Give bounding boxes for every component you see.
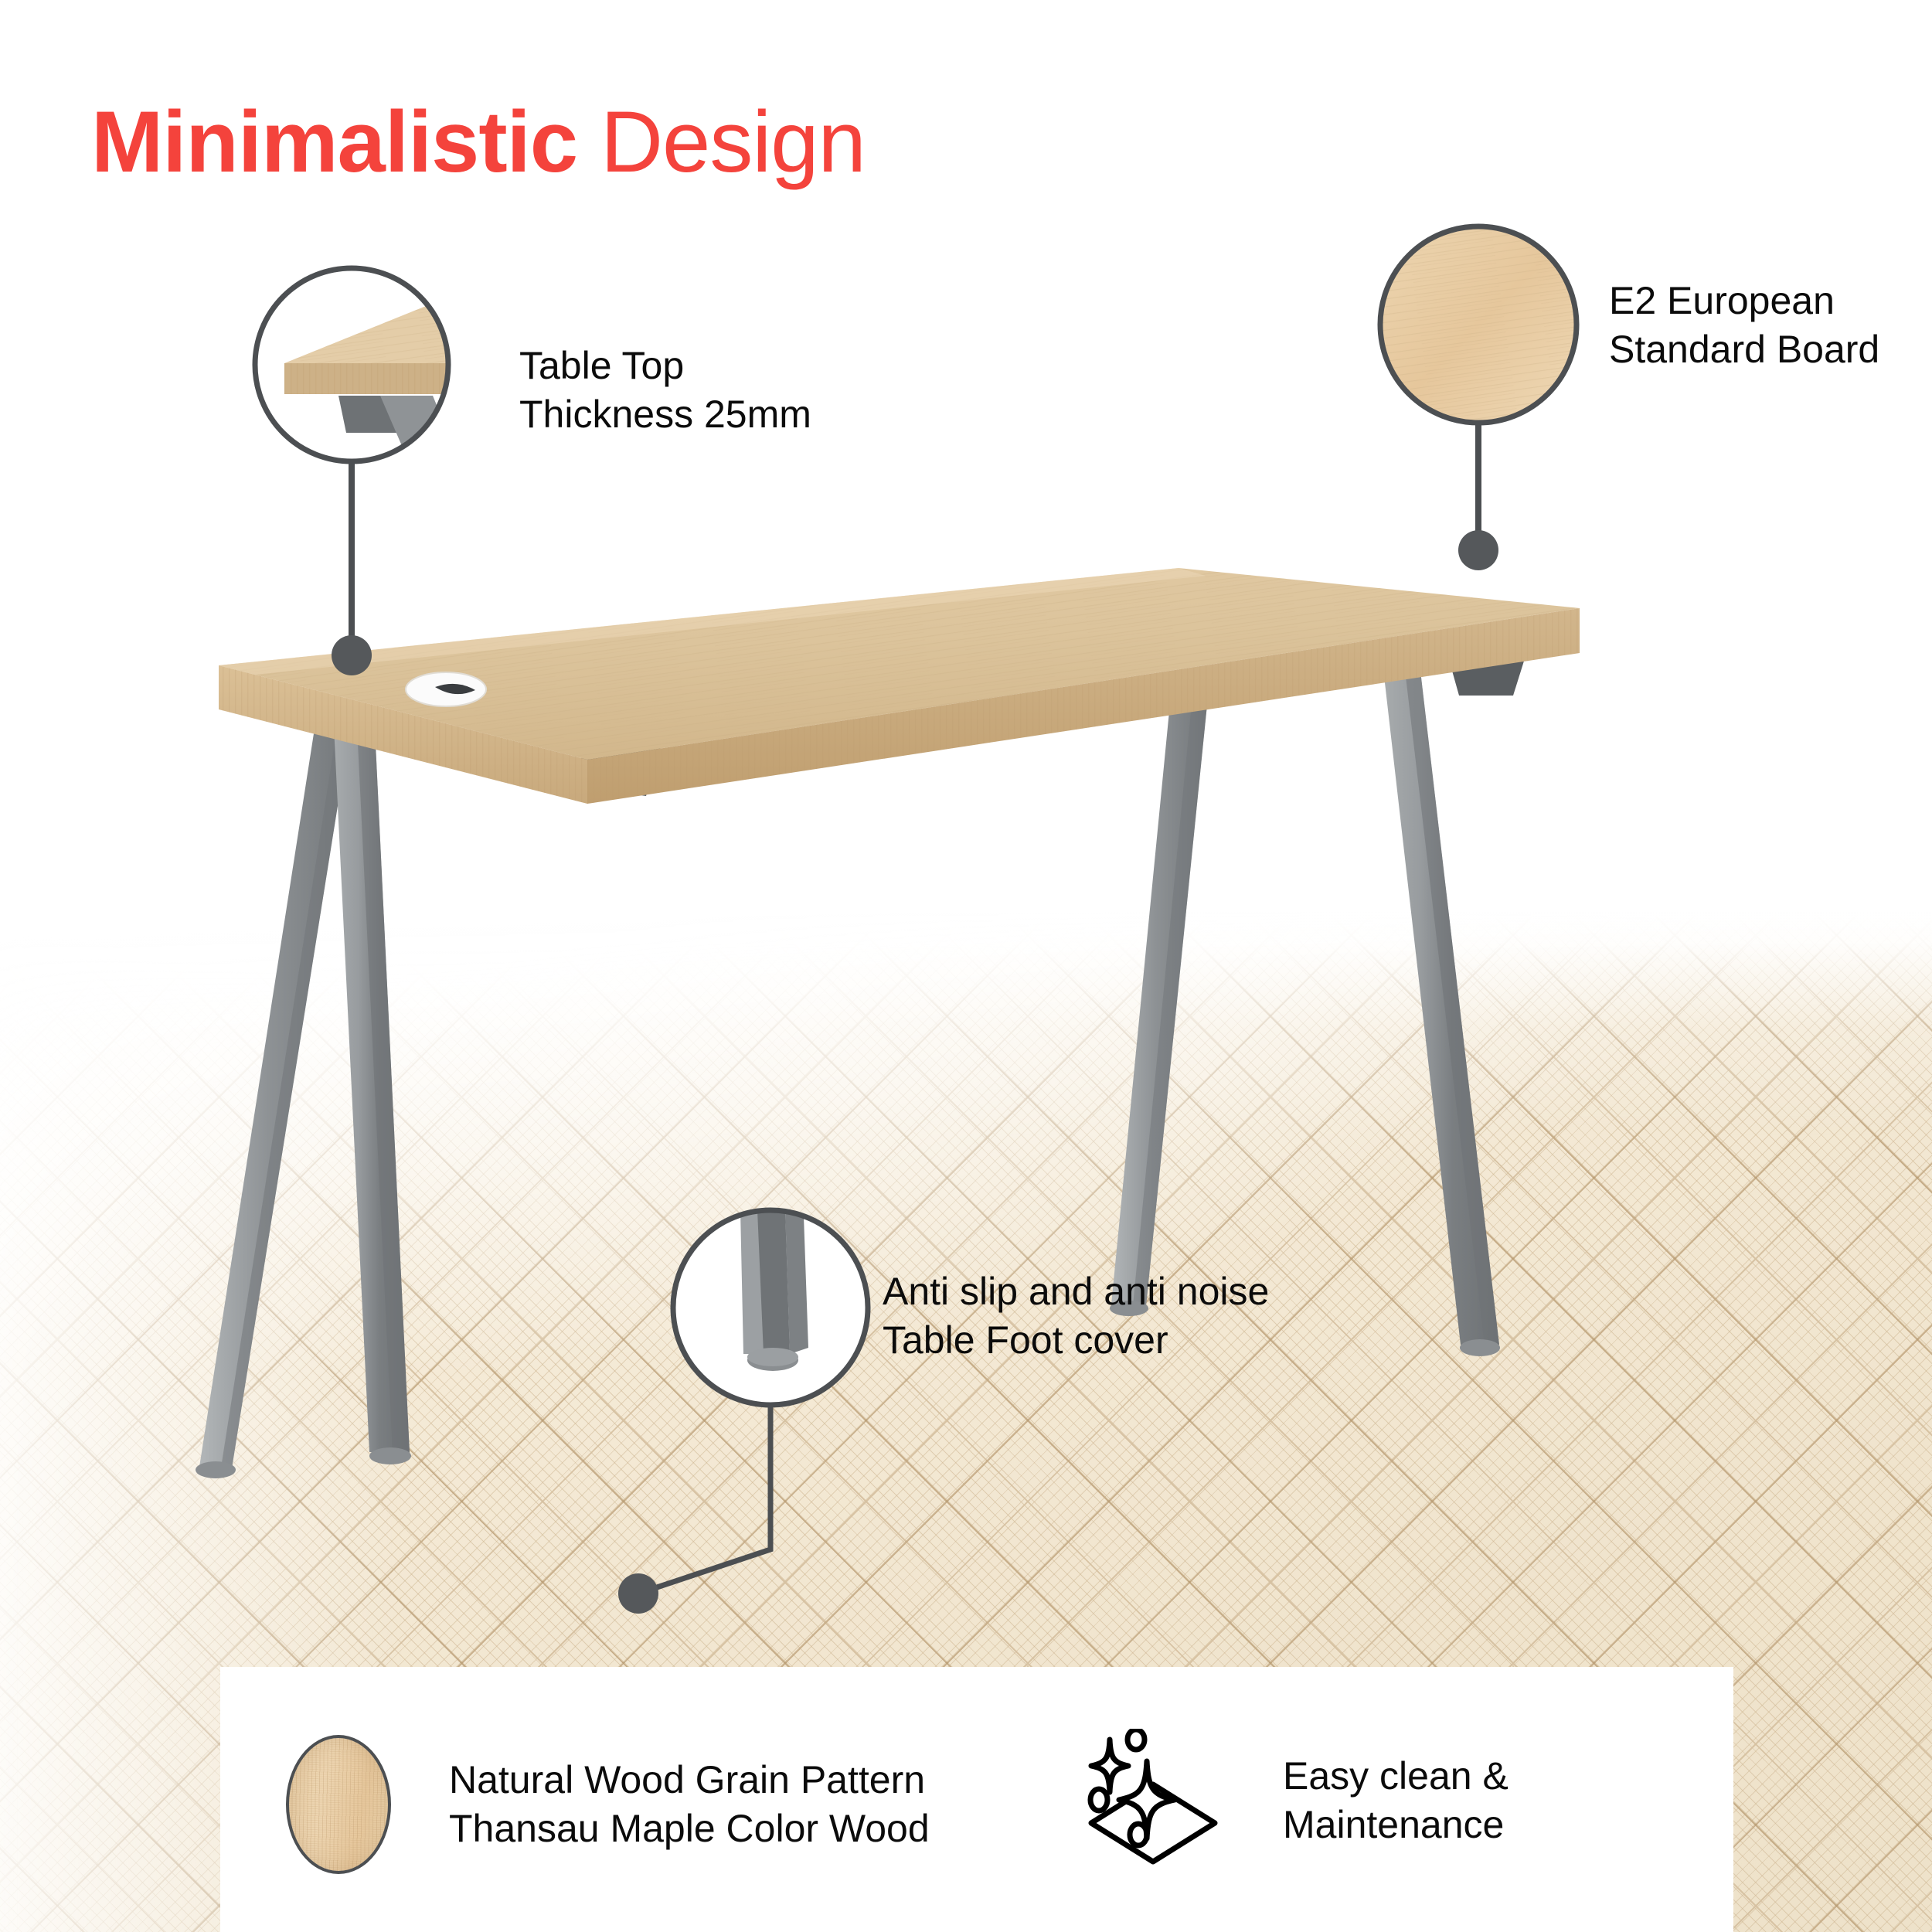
feature-easy-clean[interactable]: Easy clean & Maintenance xyxy=(1082,1729,1509,1872)
sparkle-diamond-icon xyxy=(1082,1729,1229,1872)
callout-2-line1: E2 European xyxy=(1609,277,1879,325)
callout-1-zoom-content xyxy=(255,268,510,495)
callout-label-foot-cover: Anti slip and anti noise Table Foot cove… xyxy=(883,1267,1269,1365)
callout-1-line1: Table Top xyxy=(519,342,811,390)
callout-label-e2-board: E2 European Standard Board xyxy=(1609,277,1879,374)
callout-table-top-thickness[interactable] xyxy=(255,268,510,675)
callout-e2-standard-board[interactable] xyxy=(1380,226,1577,570)
feature-2-text: Easy clean & Maintenance xyxy=(1283,1752,1509,1849)
callout-3-anchor-dot xyxy=(618,1573,658,1614)
feature-1-text: Natural Wood Grain Pattern Thansau Maple… xyxy=(449,1756,930,1853)
foot-cover-left-front xyxy=(369,1447,411,1464)
callout-1-line2: Thickness 25mm xyxy=(519,390,811,439)
wood-swatch-icon xyxy=(286,1735,391,1874)
feature-1-line1: Natural Wood Grain Pattern xyxy=(449,1756,930,1804)
leg-left-rear-shade xyxy=(221,719,352,1468)
callout-3-line2: Table Foot cover xyxy=(883,1316,1269,1365)
callout-2-anchor-dot xyxy=(1458,530,1498,570)
feature-2-line2: Maintenance xyxy=(1283,1801,1509,1849)
feature-bar: Natural Wood Grain Pattern Thansau Maple… xyxy=(220,1667,1733,1932)
foot-cover-left-rear xyxy=(196,1461,236,1478)
feature-2-line1: Easy clean & xyxy=(1283,1752,1509,1801)
callout-anti-slip-foot-cover[interactable] xyxy=(618,1210,868,1614)
desk-top xyxy=(219,568,1580,804)
callout-1-anchor-dot xyxy=(332,635,372,675)
feature-natural-wood-grain[interactable]: Natural Wood Grain Pattern Thansau Maple… xyxy=(286,1735,930,1874)
feature-1-line2: Thansau Maple Color Wood xyxy=(449,1804,930,1853)
callout-label-table-top: Table Top Thickness 25mm xyxy=(519,342,811,439)
callout-3-leader xyxy=(648,1405,770,1590)
callout-3-line1: Anti slip and anti noise xyxy=(883,1267,1269,1316)
infographic-canvas: Minimalistic Design xyxy=(0,0,1932,1932)
callout-2-line2: Standard Board xyxy=(1609,325,1879,374)
foot-cover-right-front xyxy=(1460,1339,1500,1356)
